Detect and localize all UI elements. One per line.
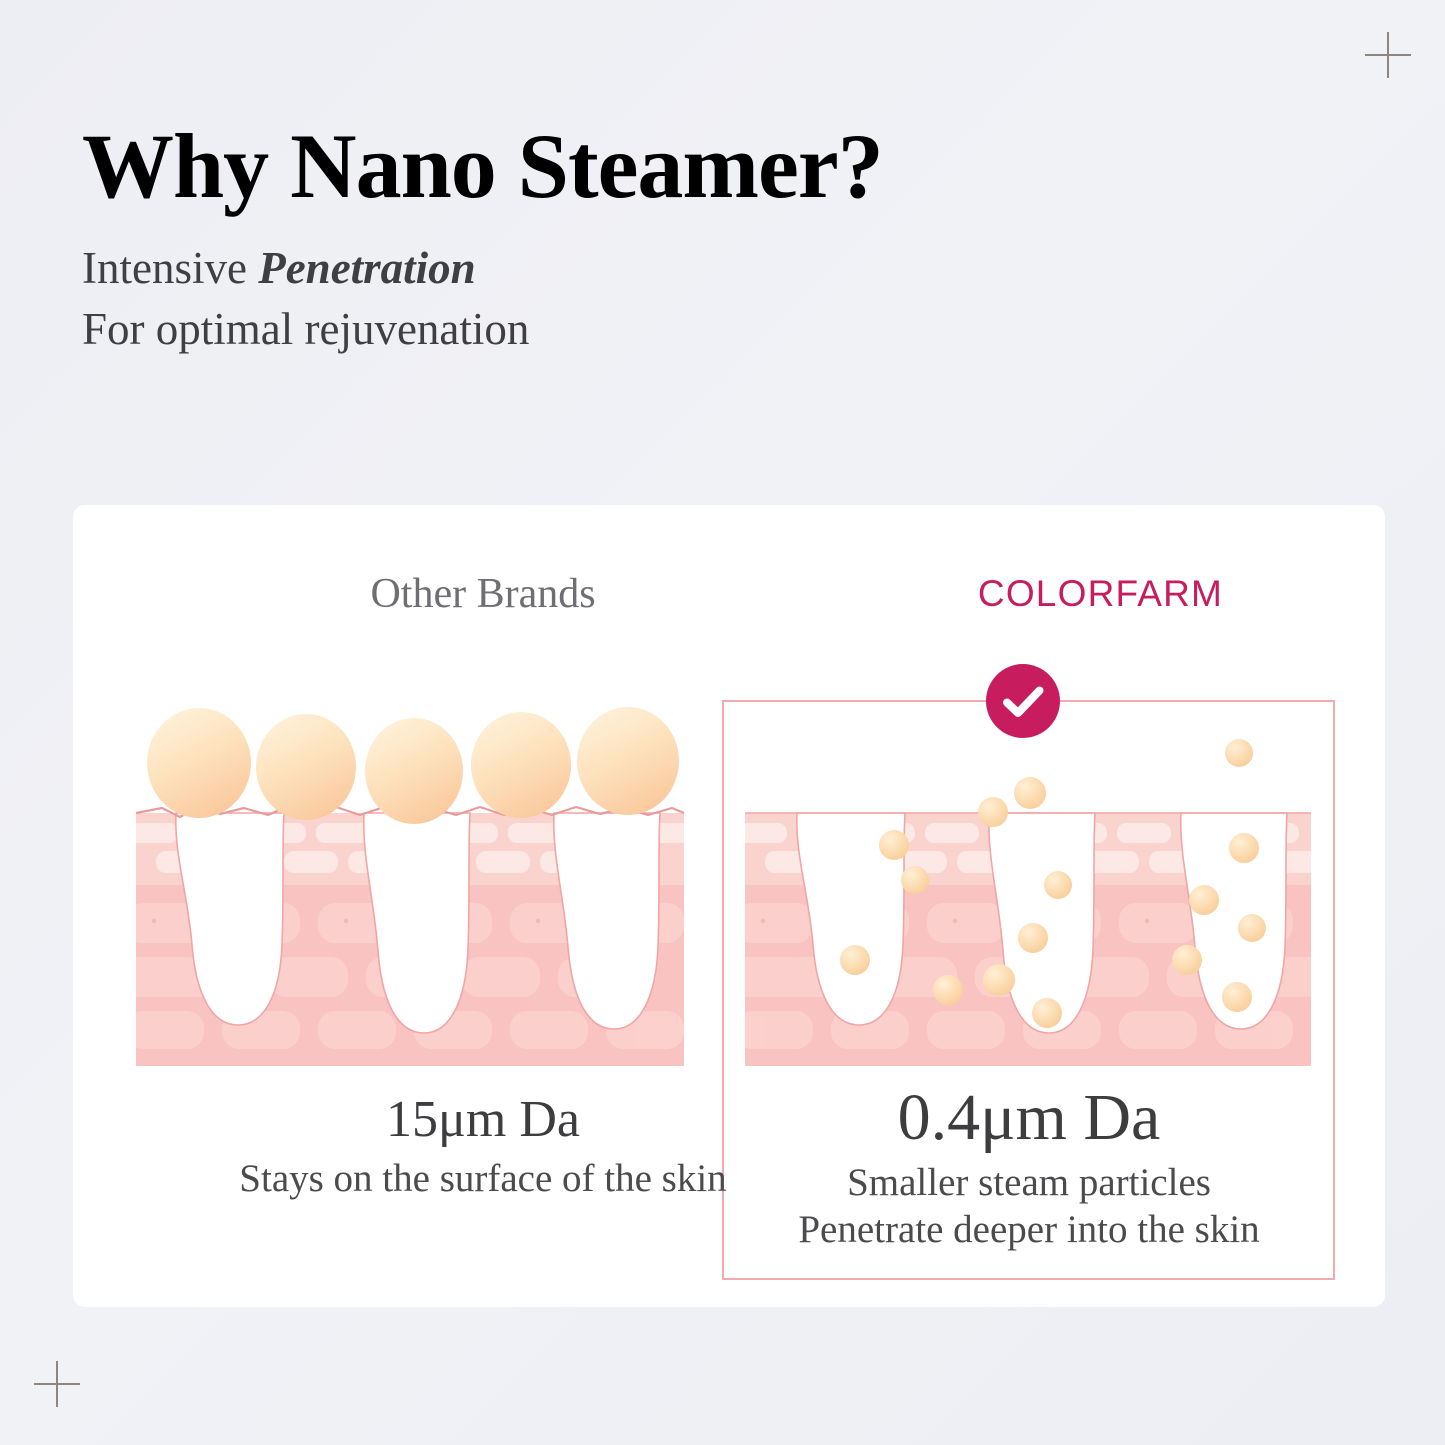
check-circle-icon <box>986 664 1060 738</box>
infographic-canvas: Why Nano Steamer? Intensive Penetration … <box>0 0 1445 1445</box>
label-other-brands: 15μm Da Stays on the surface of the skin <box>178 1091 788 1203</box>
subtitle-line-1: Intensive Penetration <box>82 238 1182 299</box>
description-colorfarm-line-1: Smaller steam particles <box>743 1159 1315 1207</box>
plus-mark-icon-top-right <box>1365 32 1411 78</box>
skin-diagram-colorfarm <box>745 695 1311 1075</box>
particle-size-colorfarm: 0.4μm Da <box>743 1081 1315 1155</box>
header-block: Why Nano Steamer? Intensive Penetration … <box>82 120 1182 359</box>
plus-mark-icon-bottom-left <box>34 1361 80 1407</box>
label-colorfarm: 0.4μm Da Smaller steam particles Penetra… <box>743 1081 1315 1254</box>
particle-size-other-brands: 15μm Da <box>178 1091 788 1149</box>
page-title: Why Nano Steamer? <box>82 120 1182 214</box>
comparison-card: Other Brands COLORFARM <box>73 505 1385 1307</box>
skin-diagram-other-brands <box>136 695 684 1075</box>
description-colorfarm-line-2: Penetrate deeper into the skin <box>743 1206 1315 1254</box>
subtitle-line-2: For optimal rejuvenation <box>82 299 1182 360</box>
subtitle-prefix: Intensive <box>82 243 258 293</box>
subtitle-emphasis: Penetration <box>258 243 476 293</box>
description-other-brands: Stays on the surface of the skin <box>178 1155 788 1203</box>
column-heading-colorfarm: COLORFARM <box>818 573 1383 615</box>
column-heading-other-brands: Other Brands <box>208 570 758 618</box>
